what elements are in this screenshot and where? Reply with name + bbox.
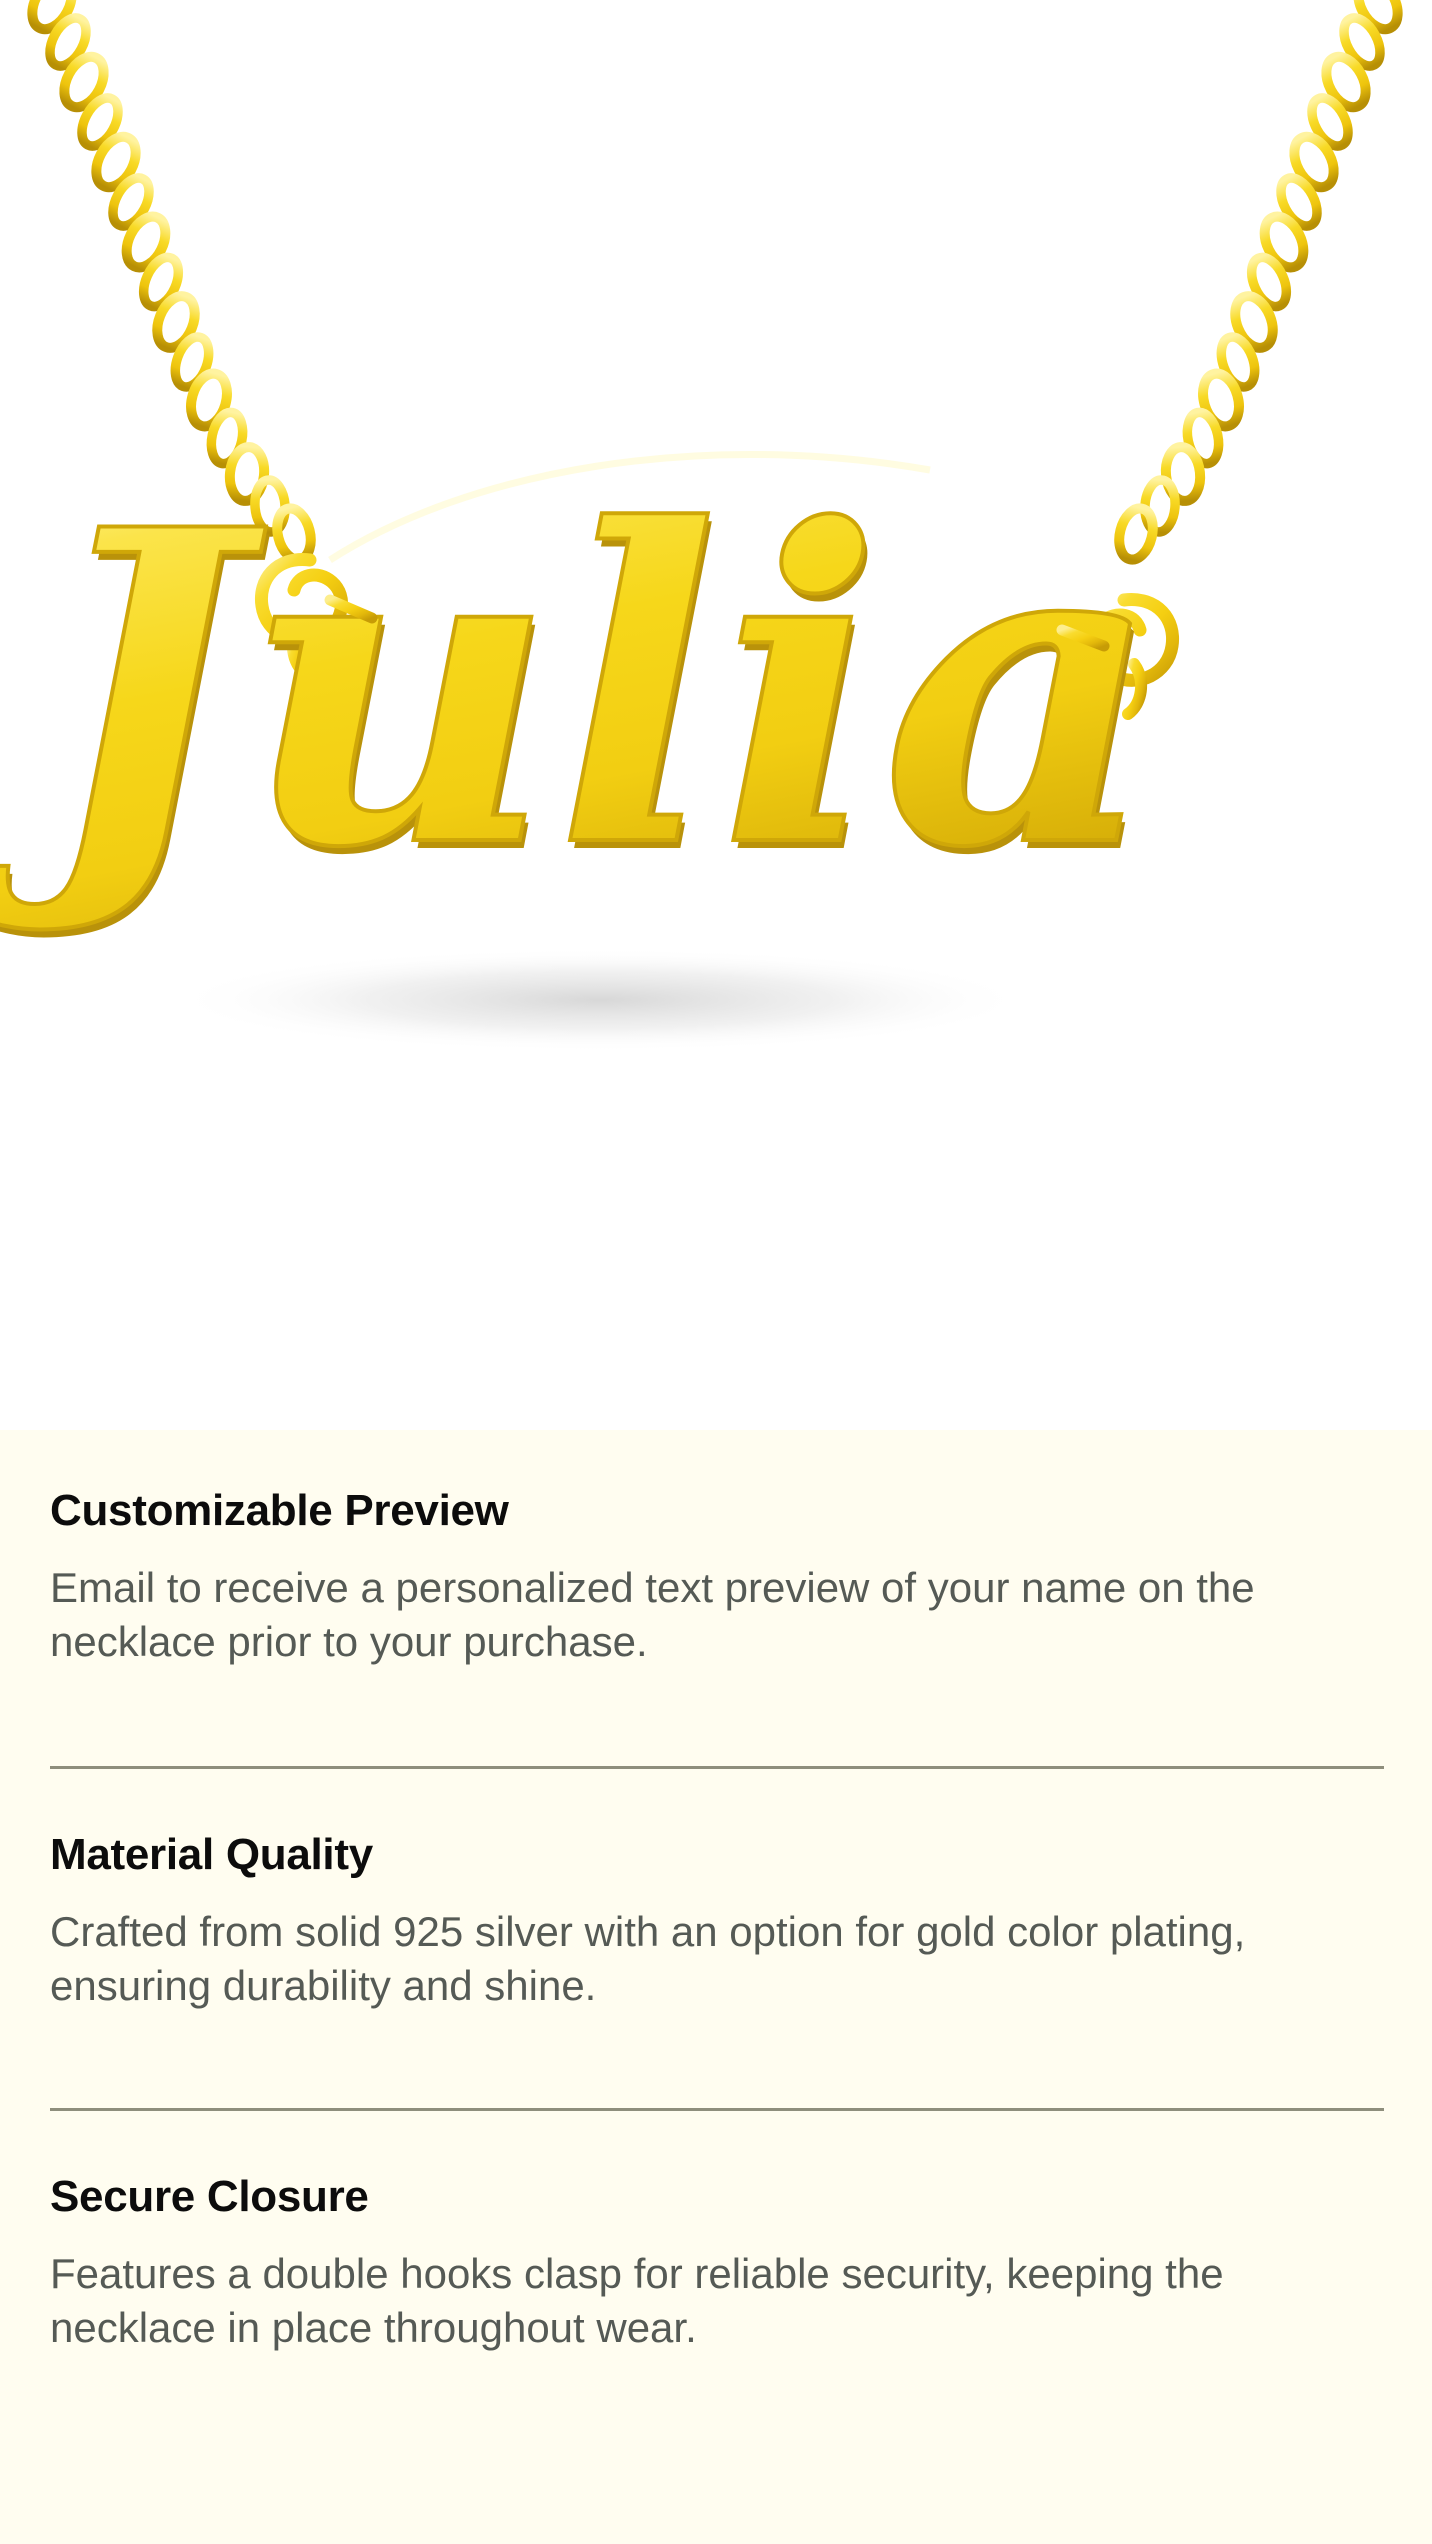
feature-description: Email to receive a personalized text pre… [50,1561,1380,1669]
feature-item-material-quality: Material Quality Crafted from solid 925 … [50,1830,1384,2013]
feature-title: Customizable Preview [50,1486,1384,1535]
feature-item-secure-closure: Secure Closure Features a double hooks c… [50,2172,1384,2355]
feature-description: Crafted from solid 925 silver with an op… [50,1905,1380,2013]
feature-description: Features a double hooks clasp for reliab… [50,2247,1380,2355]
feature-title: Secure Closure [50,2172,1384,2221]
pendant-shadow [170,948,1030,1052]
gold-name-necklace-photo[interactable]: Julia Julia [0,0,1432,1430]
pendant-name-text: Julia [0,437,1161,942]
product-image-viewport[interactable]: Julia Julia [0,0,1432,1430]
feature-divider [50,2108,1384,2111]
product-details-panel: Customizable Preview Email to receive a … [0,1430,1432,2544]
feature-title: Material Quality [50,1830,1384,1879]
pendant-name-plate: Julia Julia [0,437,1165,950]
feature-divider [50,1766,1384,1769]
feature-item-customizable-preview: Customizable Preview Email to receive a … [50,1486,1384,1669]
